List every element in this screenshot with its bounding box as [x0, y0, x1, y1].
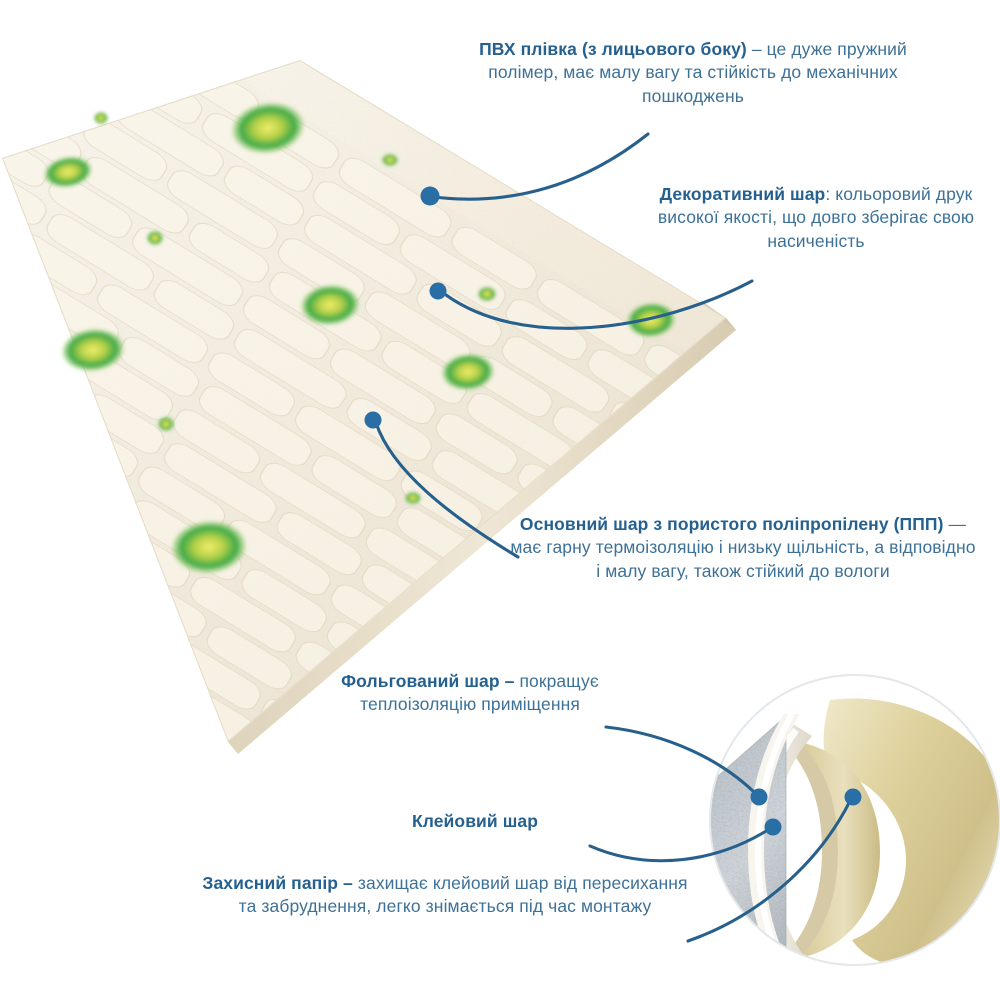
dot-pvc	[421, 187, 440, 206]
foil-layer-title: Фольгований шар –	[341, 671, 514, 691]
foil-layer-callout: Фольгований шар – покращує теплоізоляцію…	[320, 670, 620, 717]
core-layer-title: Основний шар з пористого поліпропілену (…	[520, 514, 944, 534]
dot-decor	[430, 283, 447, 300]
flower-bud	[382, 154, 398, 166]
flower-bud	[405, 492, 421, 504]
decorative-layer-title: Декоративний шар	[660, 184, 826, 204]
adhesive-layer-title: Клейовий шар	[412, 811, 538, 831]
dot-adhesive	[765, 819, 782, 836]
flower-bud	[94, 112, 108, 124]
dot-paper	[845, 789, 862, 806]
decorative-layer-callout: Декоративний шар: кольоровий друк високо…	[640, 183, 992, 253]
flower-bud	[158, 417, 174, 431]
infographic-canvas: ПВХ плівка (з лицьового боку) – це дуже …	[0, 0, 1000, 1000]
panel-corner-detail	[616, 675, 1000, 984]
decorative-layer-separator: :	[825, 184, 835, 204]
protective-paper-title: Захисний папір –	[202, 873, 353, 893]
dot-foil	[751, 789, 768, 806]
flower-bud	[478, 287, 496, 301]
core-layer-separator: —	[944, 514, 967, 534]
illustration-layer	[0, 0, 1000, 1000]
pvc-film-title: ПВХ плівка (з лицьового боку)	[479, 39, 747, 59]
core-layer-text: має гарну термоізоляцію і низьку щільніс…	[510, 537, 975, 580]
dot-core	[365, 412, 382, 429]
flower-bud	[147, 231, 163, 245]
pvc-film-separator: –	[747, 39, 767, 59]
protective-paper-callout: Захисний папір – захищає клейовий шар ві…	[200, 872, 690, 919]
adhesive-layer-callout: Клейовий шар	[330, 810, 620, 833]
core-layer-callout: Основний шар з пористого поліпропілену (…	[508, 513, 978, 583]
pvc-film-callout: ПВХ плівка (з лицьового боку) – це дуже …	[452, 38, 934, 108]
